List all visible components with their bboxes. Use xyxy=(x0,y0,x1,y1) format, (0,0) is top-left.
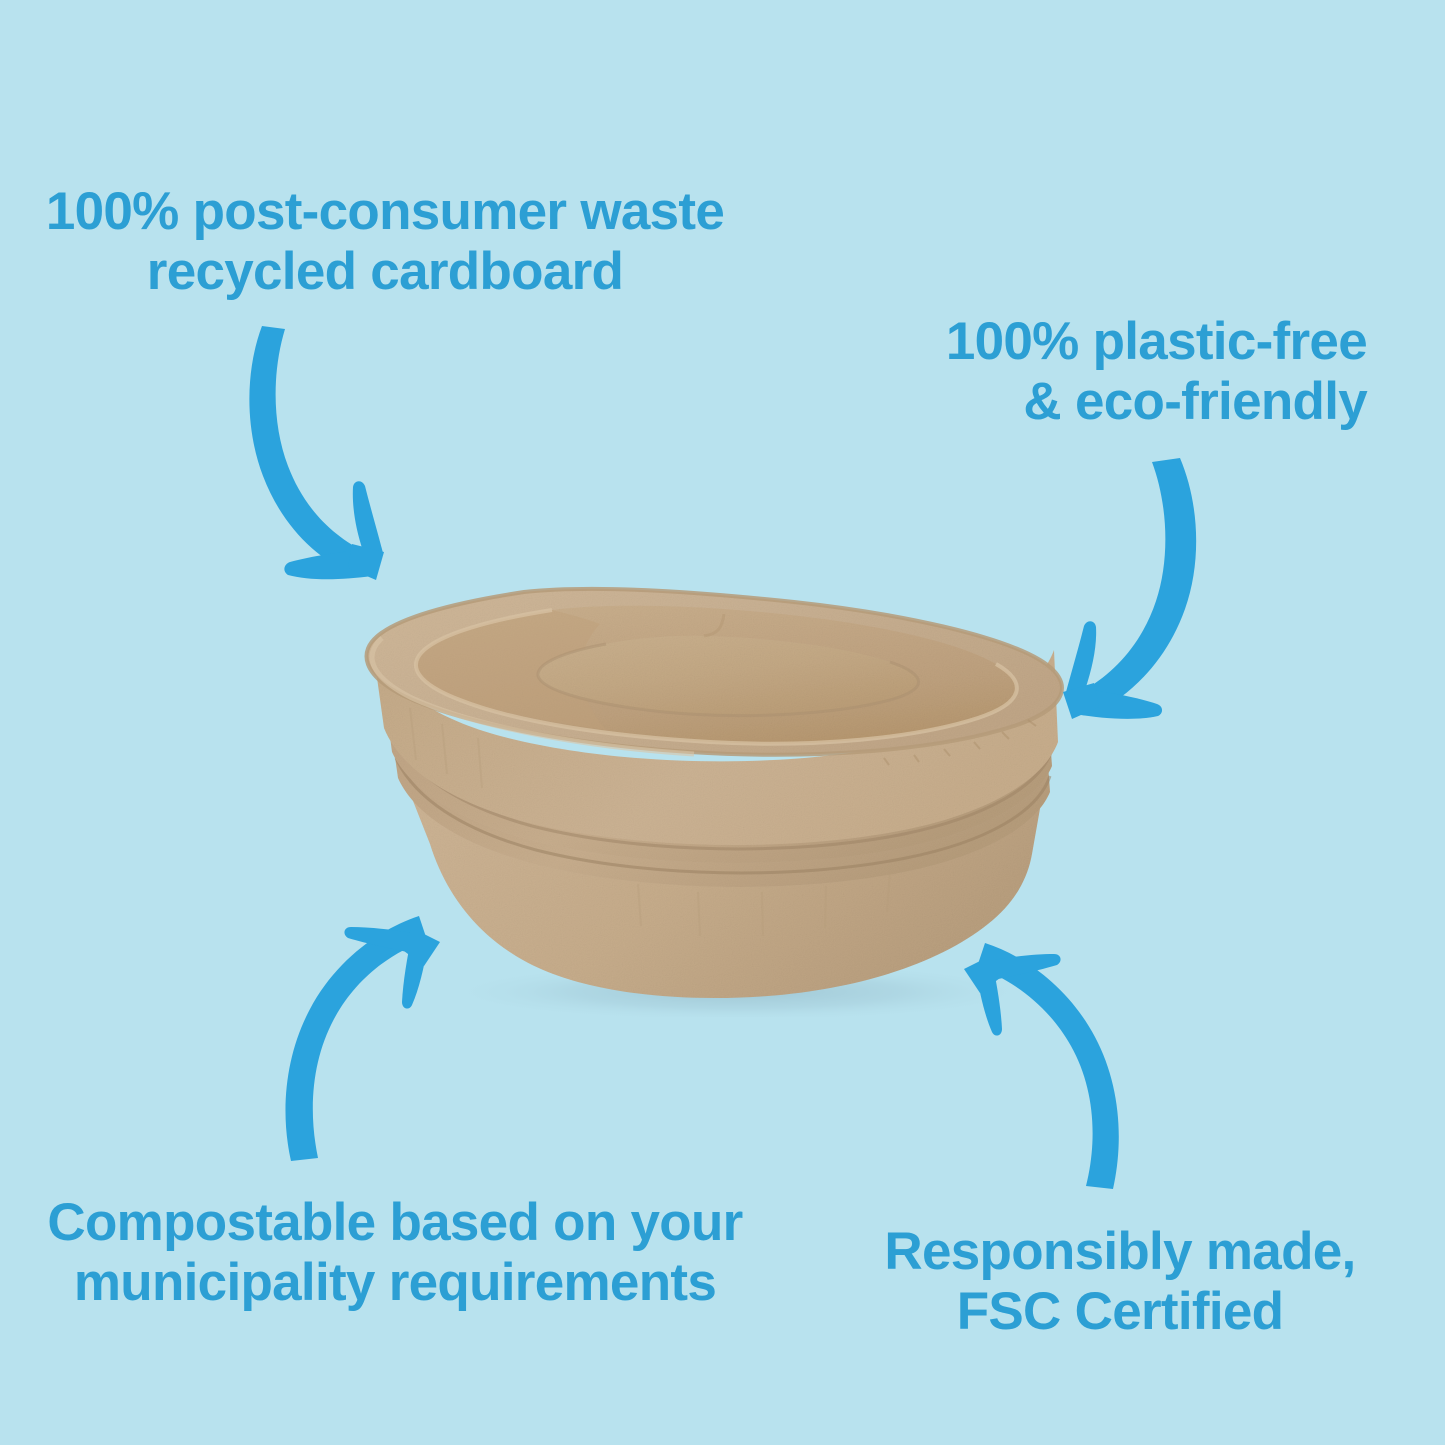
callout-text-plastic-free: 100% plastic-free & eco-friendly xyxy=(807,312,1367,433)
arrow-top-left-icon xyxy=(249,326,384,580)
callout-text-compostable: Compostable based on your municipality r… xyxy=(45,1193,745,1314)
tray-stack-illustration xyxy=(338,572,1068,1017)
product-image-tray-stack xyxy=(338,572,1068,1017)
callout-text-fsc-certified: Responsibly made, FSC Certified xyxy=(855,1222,1385,1343)
infographic-canvas: 100% post-consumer waste recycled cardbo… xyxy=(0,0,1445,1445)
callout-text-recycled-cardboard: 100% post-consumer waste recycled cardbo… xyxy=(40,182,730,303)
arrow-top-right-icon xyxy=(1063,458,1196,719)
